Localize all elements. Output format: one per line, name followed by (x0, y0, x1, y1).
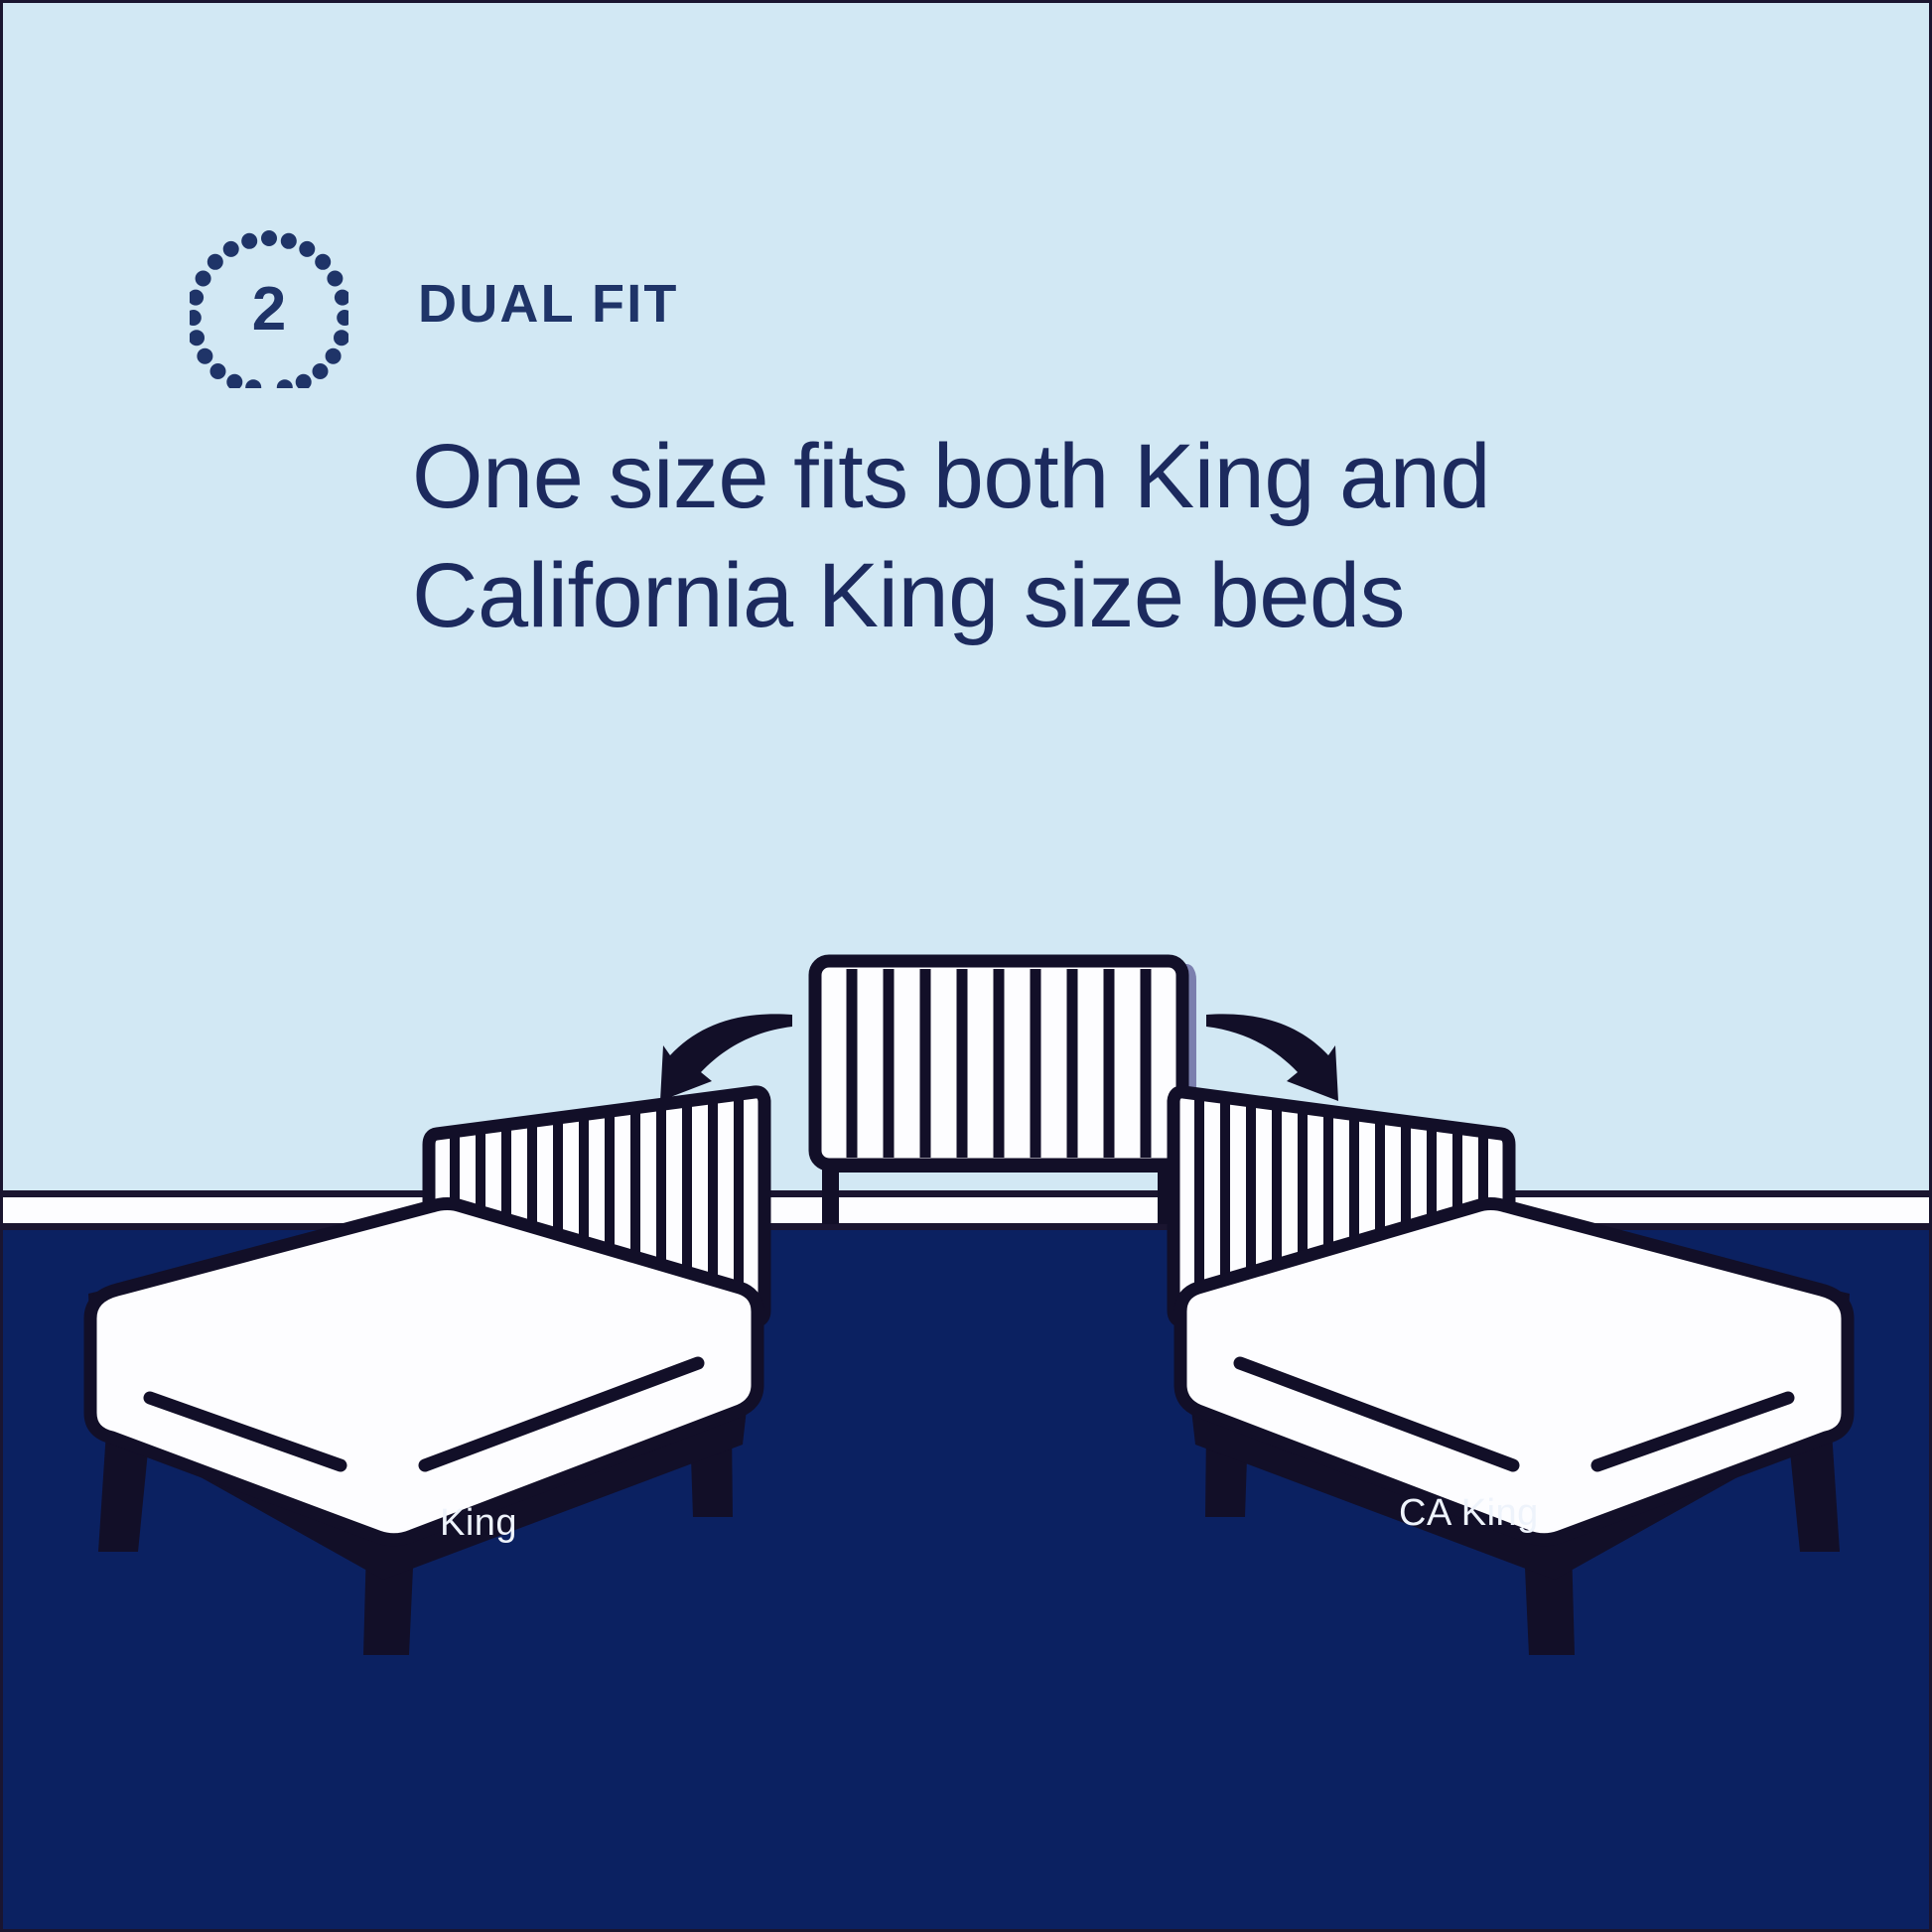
bed-label-king: King (440, 1502, 517, 1545)
arrow-left-icon (660, 1014, 792, 1101)
arrow-right-icon (1206, 1014, 1338, 1101)
bed-king (88, 1092, 764, 1655)
infographic-canvas: 2 DUAL FIT One size fits both King and C… (0, 0, 1932, 1932)
beds-scene-svg (3, 3, 1932, 1932)
headboard-center (815, 961, 1182, 1224)
bed-label-ca-king: CA King (1399, 1492, 1539, 1535)
bed-illustration (3, 3, 1932, 1932)
bed-ca-king (1173, 1092, 1850, 1655)
